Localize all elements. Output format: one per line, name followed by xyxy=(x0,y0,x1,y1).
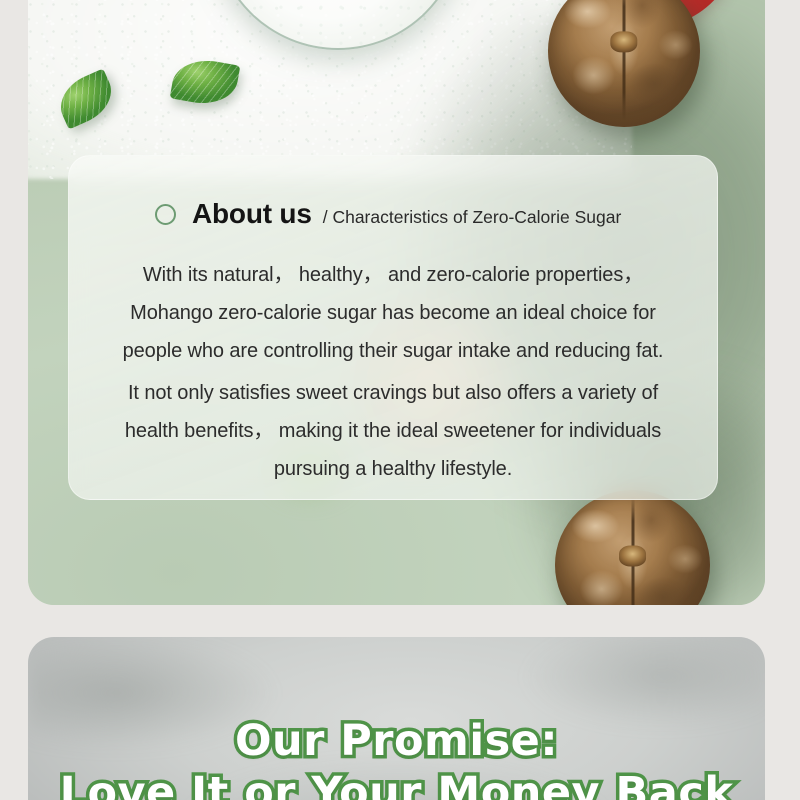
page-root: About us / Characteristics of Zero-Calor… xyxy=(0,0,800,800)
promise-line-2: Love It or Your Money Back xyxy=(28,767,765,800)
about-us-heading: About us / Characteristics of Zero-Calor… xyxy=(107,198,679,230)
monk-fruit-seam xyxy=(623,0,626,121)
our-promise-card: Our Promise: Love It or Your Money Back xyxy=(28,637,765,800)
about-paragraph: With its natural， healthy， and zero-calo… xyxy=(107,256,679,370)
about-us-photo-card: About us / Characteristics of Zero-Calor… xyxy=(28,0,765,605)
page-subtitle: / Characteristics of Zero-Calorie Sugar xyxy=(323,207,622,228)
monk-fruit-core xyxy=(619,546,647,567)
promise-line-1: Our Promise: xyxy=(28,715,765,767)
about-paragraph: It not only satisfies sweet cravings but… xyxy=(107,374,679,488)
about-us-glass-panel: About us / Characteristics of Zero-Calor… xyxy=(68,155,718,500)
monk-fruit-core xyxy=(610,31,637,52)
page-title: About us xyxy=(192,198,312,230)
ring-icon xyxy=(155,204,176,225)
promise-heading: Our Promise: Love It or Your Money Back xyxy=(28,715,765,800)
